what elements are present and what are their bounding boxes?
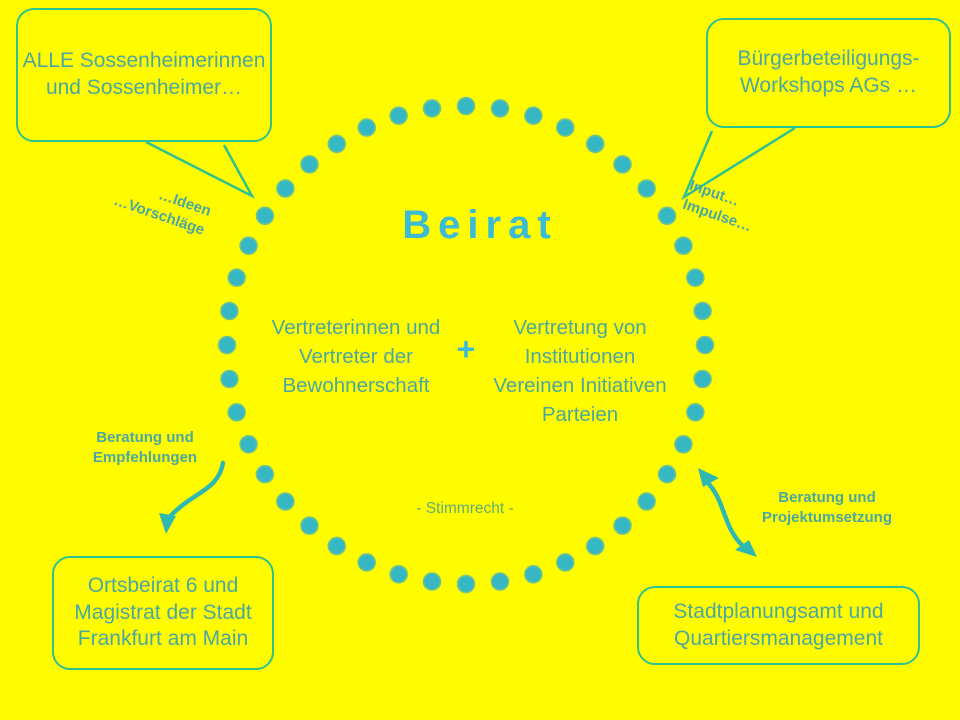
ring-dot (301, 156, 318, 173)
ring-dot (638, 493, 655, 510)
annotation-beratung-empfehlungen: Beratung und Empfehlungen (82, 428, 208, 467)
members-institutions-column: Vertretung von Institutionen Vereinen In… (490, 313, 670, 429)
ring-dot (492, 573, 509, 590)
ring-dot (694, 371, 711, 388)
diagram-canvas: Beirat Vertreterinnen und Vertreter der … (0, 0, 960, 720)
ring-dot (390, 107, 407, 124)
ring-dot (614, 156, 631, 173)
voting-rights-note: - Stimmrecht - (355, 500, 575, 518)
ring-dot (256, 466, 273, 483)
plus-icon: + (446, 331, 486, 368)
ring-dot (697, 337, 714, 354)
callout-stadtplanungsamt-label: Stadtplanungsamt und Quartiersmanagement (639, 599, 918, 653)
ring-dot (458, 98, 475, 115)
ring-dot (557, 554, 574, 571)
ring-dot (423, 573, 440, 590)
members-residents-column: Vertreterinnen und Vertreter der Bewohne… (266, 313, 446, 400)
ring-dot (328, 538, 345, 555)
ring-dot (228, 269, 245, 286)
ring-dot (219, 337, 236, 354)
ring-dot (301, 517, 318, 534)
callout-ortsbeirat-magistrat: Ortsbeirat 6 und Magistrat der Stadt Fra… (52, 556, 274, 670)
ring-dot (228, 404, 245, 421)
ring-dot (277, 493, 294, 510)
callout-participation-workshops: Bürgerbeteiligungs- Workshops AGs … (706, 18, 951, 128)
ring-dot (240, 436, 257, 453)
ring-dot (687, 404, 704, 421)
ring-dot (587, 135, 604, 152)
ring-dot (614, 517, 631, 534)
ring-dot (675, 436, 692, 453)
ring-dot (687, 269, 704, 286)
ring-dot (694, 302, 711, 319)
callout-all-citizens-label: ALLE Sossenheimerinnen und Sossenheimer… (18, 48, 270, 102)
ring-dot (358, 554, 375, 571)
callout-ortsbeirat-magistrat-label: Ortsbeirat 6 und Magistrat der Stadt Fra… (60, 573, 266, 654)
ring-dot (221, 302, 238, 319)
ring-dot (659, 466, 676, 483)
ring-dot (525, 566, 542, 583)
ring-dot (638, 180, 655, 197)
ring-dot (525, 107, 542, 124)
ring-dot (328, 135, 345, 152)
ring-dot (221, 371, 238, 388)
ring-dot (587, 538, 604, 555)
callout-all-citizens: ALLE Sossenheimerinnen und Sossenheimer… (16, 8, 272, 142)
ring-dot (423, 100, 440, 117)
ring-dot (458, 576, 475, 593)
ring-dot (277, 180, 294, 197)
ring-dot (358, 119, 375, 136)
callout-stadtplanungsamt: Stadtplanungsamt und Quartiersmanagement (637, 586, 920, 665)
ring-dot (557, 119, 574, 136)
ring-dot (492, 100, 509, 117)
callout-participation-workshops-label: Bürgerbeteiligungs- Workshops AGs … (708, 46, 949, 100)
annotation-beratung-projektumsetzung: Beratung und Projektumsetzung (752, 488, 902, 527)
ring-dot (390, 566, 407, 583)
